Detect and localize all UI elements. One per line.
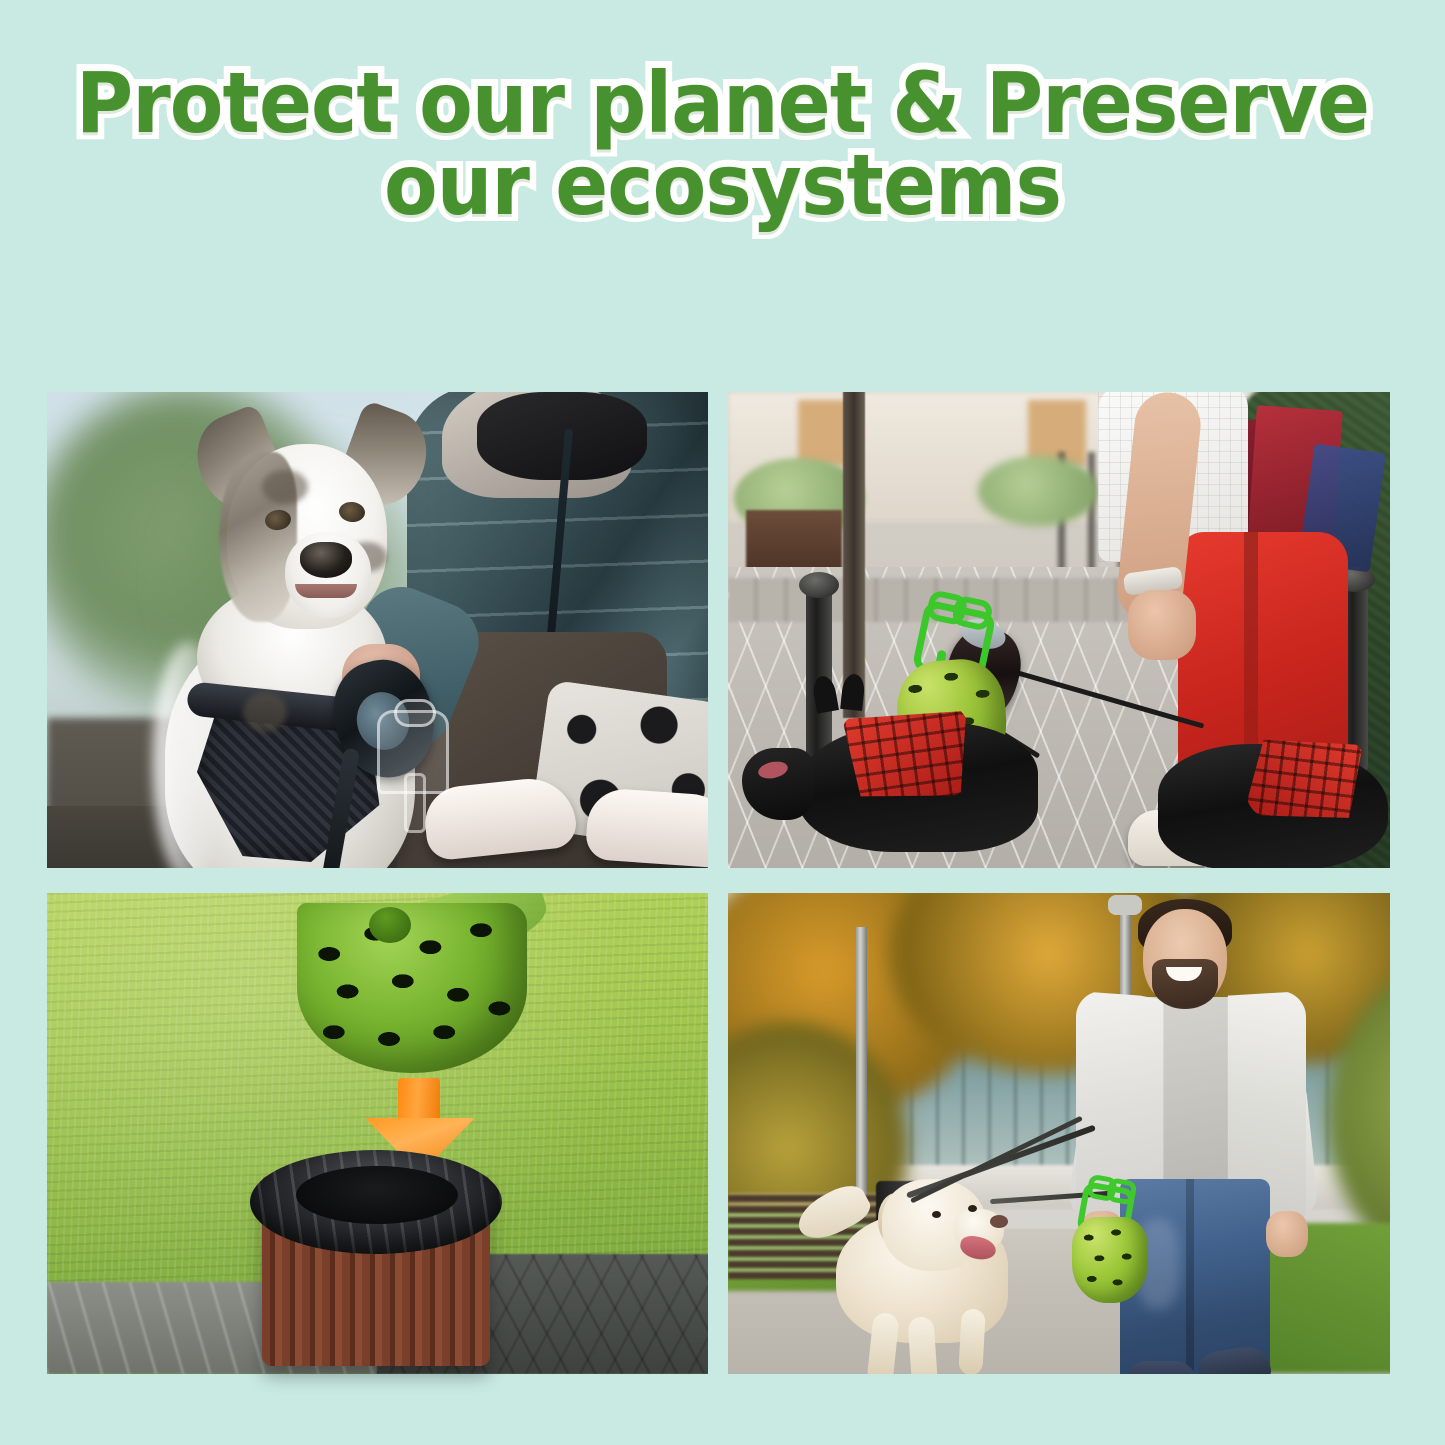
retriever-eye-1 [932,1211,941,1218]
bin-opening [296,1166,458,1224]
waste-bag-knot [369,907,411,943]
stone-planter [746,510,842,570]
retriever-leg-3 [958,1308,985,1374]
man-hand-right [1266,1211,1308,1257]
dog-nose [300,542,352,578]
red-plaid-bandana-left [842,702,978,810]
woman-hand [1128,590,1196,660]
page-title: Protect our planet & Preserve our ecosys… [51,62,1395,227]
dog-mouth [295,584,357,598]
photo-woman-with-terriers [728,392,1390,868]
tree-trunk [843,392,865,718]
gallery-panel-bottom-right [728,893,1390,1374]
merle-spot-3 [243,692,287,732]
lamp-post-1 [856,927,867,1227]
retriever-nose [990,1215,1008,1228]
sneaker-right [585,787,708,868]
bone-bag-dispenser-icon [377,710,449,794]
gallery-panel-top-right [728,392,1390,868]
retriever-eye-2 [968,1205,977,1212]
green-bone-print-waste-bag [297,903,527,1073]
planter-shrub-mid [978,456,1098,526]
merle-spot-1 [262,470,308,504]
photo-dog-with-owner [47,392,708,868]
photo-man-with-retriever [728,893,1390,1374]
poster-canvas: Protect our planet & Preserve our ecosys… [0,0,1445,1445]
gallery-panel-top-left [47,392,708,868]
green-waste-bag [1072,1217,1148,1303]
